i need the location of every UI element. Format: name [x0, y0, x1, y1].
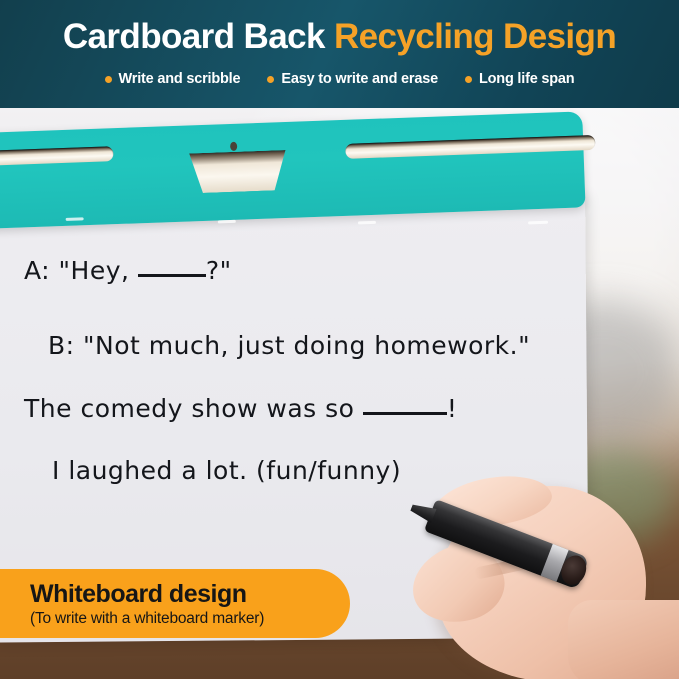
feature-bullet-2: Easy to write and erase	[267, 71, 438, 87]
handwriting-line-1: A: "Hey, ?"	[24, 256, 232, 285]
bullet-dot-icon	[105, 76, 112, 83]
whiteboard-design-banner: Whiteboard design (To write with a white…	[0, 569, 350, 638]
marker-nib	[409, 500, 437, 523]
feature-bullet-list: Write and scribble Easy to write and era…	[0, 71, 679, 87]
handwriting-line-2: B: "Not much, just doing homework."	[48, 331, 530, 360]
product-listing-image: Cardboard Back Recycling Design Write an…	[0, 0, 679, 679]
handwriting-line-3: The comedy show was so !	[24, 394, 457, 423]
feature-bullet-1: Write and scribble	[105, 71, 241, 87]
slot-cutout-left	[0, 146, 114, 170]
handwriting-line-1-before: A: "Hey,	[24, 256, 138, 285]
handwriting-line-3-after: !	[447, 394, 458, 423]
handwriting-line-4: I laughed a lot. (fun/funny)	[52, 456, 401, 485]
bullet-dot-icon	[465, 76, 472, 83]
page-title-primary: Cardboard Back	[63, 17, 334, 56]
hand-holding-marker	[400, 450, 679, 679]
feature-bullet-3: Long life span	[465, 71, 574, 87]
bullet-dot-icon	[267, 76, 274, 83]
feature-bullet-label: Write and scribble	[119, 71, 241, 87]
page-title: Cardboard Back Recycling Design	[0, 17, 679, 57]
feature-bullet-label: Long life span	[479, 71, 574, 87]
slot-cutout-right	[345, 135, 595, 159]
hanging-hole-dot-icon	[230, 142, 237, 151]
banner-title: Whiteboard design	[30, 580, 350, 608]
handwriting-line-1-after: ?"	[206, 256, 232, 285]
handwriting-line-3-before: The comedy show was so	[24, 394, 363, 423]
feature-bullet-label: Easy to write and erase	[281, 71, 438, 87]
banner-subtitle: (To write with a whiteboard marker)	[30, 610, 350, 628]
hand-wrist	[568, 600, 679, 679]
fill-in-blank	[138, 274, 206, 277]
header-banner: Cardboard Back Recycling Design Write an…	[0, 0, 679, 108]
page-title-accent: Recycling Design	[334, 17, 616, 56]
fill-in-blank	[363, 412, 447, 415]
trapezoid-cutout	[181, 150, 294, 194]
